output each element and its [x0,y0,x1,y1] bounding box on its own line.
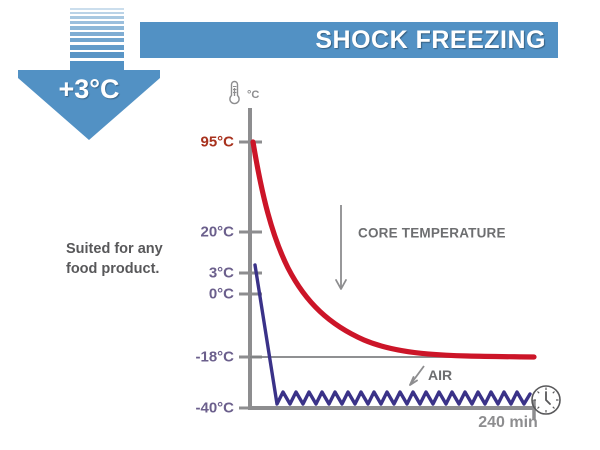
y-tick-label-minus-18: -18°C [180,349,234,366]
air-label: AIR [428,367,452,383]
air-leader-icon [410,366,424,385]
y-tick-label-20: 20°C [188,224,234,241]
thermometer-icon [230,82,239,104]
y-tick-label-95: 95°C [188,134,234,151]
core-temperature-label: CORE TEMPERATURE [358,226,506,241]
y-tick-label-3: 3°C [188,265,234,282]
y-tick-label-minus-40: -40°C [180,400,234,417]
clock-icon [532,386,560,414]
core-temperature-arrow-icon [336,205,346,289]
x-axis-end-label: 240 min [478,414,538,432]
y-tick-label-0: 0°C [188,286,234,303]
shock-freezing-chart [0,0,600,450]
core-temperature-curve [253,142,534,357]
y-axis-unit-label: °C [247,89,259,101]
